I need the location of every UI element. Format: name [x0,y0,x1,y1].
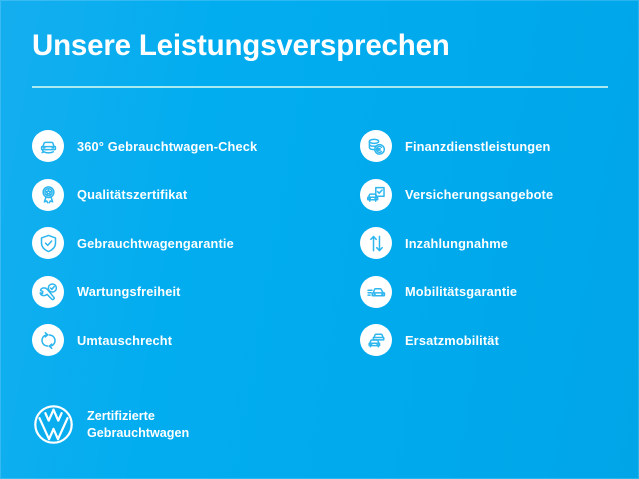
promise-label: Wartungsfreiheit [77,284,181,299]
promise-label: Finanzdienstleistungen [405,139,551,154]
two-cars-icon [360,324,392,356]
title-divider [32,86,608,88]
award-rosette-icon [32,179,64,211]
footer-brand: Zertifizierte Gebrauchtwagen [33,404,189,445]
promise-item-quality-certificate[interactable]: Qualitätszertifikat [32,171,312,220]
car-document-check-icon [360,179,392,211]
promise-label: Mobilitätsgarantie [405,284,517,299]
promise-item-replacement-mobility[interactable]: Ersatzmobilität [360,316,639,365]
promises-column-right: Finanzdienstleistungen Versicherungsange… [360,122,639,365]
promises-column-left: 360° Gebrauchtwagen-Check Qualitätszerti… [32,122,312,365]
arrows-up-down-icon [360,227,392,259]
promise-label: Qualitätszertifikat [77,187,187,202]
promise-label: 360° Gebrauchtwagen-Check [77,139,257,154]
promises-slide: Unsere Leistungsversprechen 360° Gebrauc… [0,0,639,479]
wrench-check-icon [32,276,64,308]
promise-item-trade-in[interactable]: Inzahlungnahme [360,219,639,268]
promise-item-360-check[interactable]: 360° Gebrauchtwagen-Check [32,122,312,171]
page-title: Unsere Leistungsversprechen [32,30,450,62]
promise-item-used-car-warranty[interactable]: Gebrauchtwagengarantie [32,219,312,268]
promise-item-insurance-offers[interactable]: Versicherungsangebote [360,171,639,220]
car-360-rotate-icon [32,130,64,162]
car-tow-icon [360,276,392,308]
coins-euro-icon [360,130,392,162]
promise-item-mobility-guarantee[interactable]: Mobilitätsgarantie [360,268,639,317]
promise-label: Versicherungsangebote [405,187,553,202]
promise-label: Gebrauchtwagengarantie [77,236,234,251]
promise-label: Ersatzmobilität [405,333,499,348]
footer-label: Zertifizierte Gebrauchtwagen [87,408,189,442]
exchange-arrows-icon [32,324,64,356]
promise-item-exchange-right[interactable]: Umtauschrecht [32,316,312,365]
shield-check-icon [32,227,64,259]
promise-label: Umtauschrecht [77,333,172,348]
promise-item-maintenance-free[interactable]: Wartungsfreiheit [32,268,312,317]
promise-label: Inzahlungnahme [405,236,508,251]
volkswagen-logo [33,404,74,445]
promise-item-financial-services[interactable]: Finanzdienstleistungen [360,122,639,171]
